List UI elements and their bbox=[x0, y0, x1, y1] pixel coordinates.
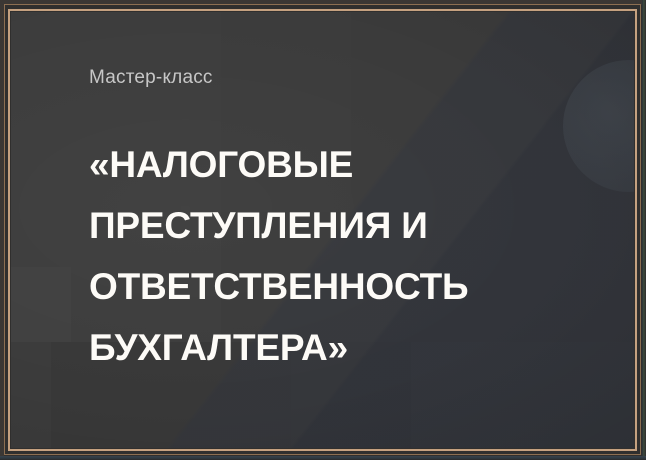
frame-bottom-shadow bbox=[0, 456, 646, 460]
slide-title-line-4: БУХГАЛТЕРА» bbox=[89, 317, 609, 378]
slide-kicker-label: Мастер-класс bbox=[89, 67, 213, 89]
frame-right-shadow bbox=[642, 0, 646, 460]
slide-title-line-2: ПРЕСТУПЛЕНИЯ И bbox=[89, 195, 609, 256]
slide-title: «НАЛОГОВЫЕ ПРЕСТУПЛЕНИЯ И ОТВЕТСТВЕННОСТ… bbox=[89, 134, 609, 378]
slide-title-line-3: ОТВЕТСТВЕННОСТЬ bbox=[89, 256, 609, 317]
slide-title-line-1: «НАЛОГОВЫЕ bbox=[89, 134, 609, 195]
presentation-slide: Мастер-класс «НАЛОГОВЫЕ ПРЕСТУПЛЕНИЯ И О… bbox=[0, 0, 646, 460]
